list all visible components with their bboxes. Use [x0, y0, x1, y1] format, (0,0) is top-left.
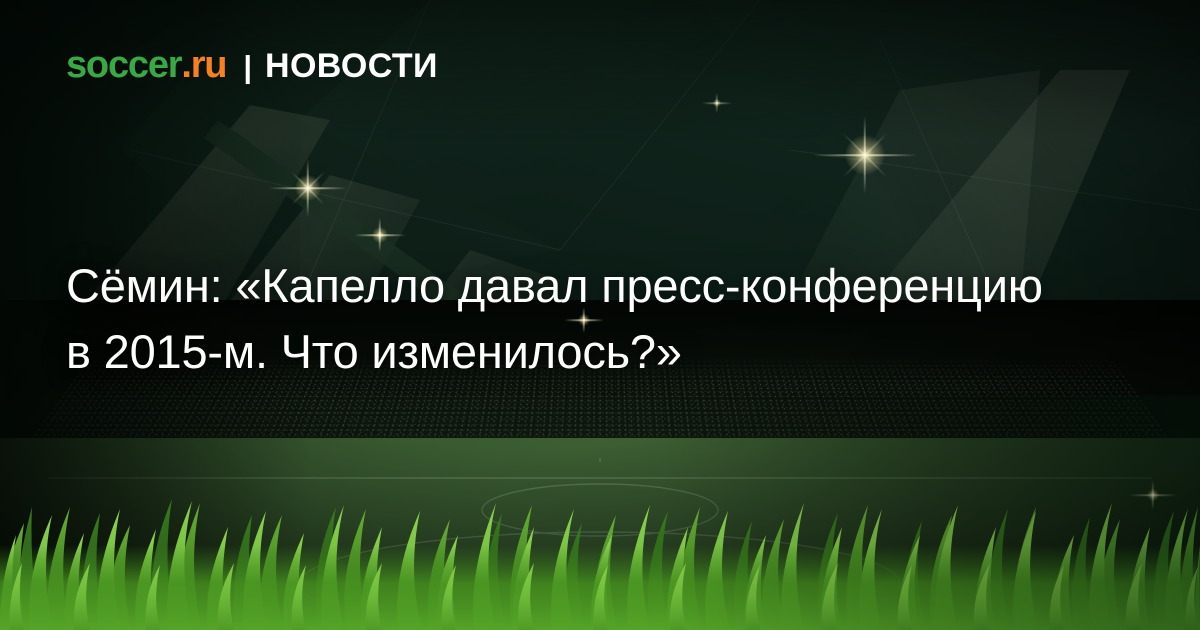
article-headline: Сёмин: «Капелло давал пресс-конференцию … — [66, 253, 1076, 385]
logo-separator: | — [243, 49, 252, 85]
site-logo[interactable]: soccer .ru | НОВОСТИ — [66, 44, 438, 87]
logo-word-ru: .ru — [181, 44, 226, 87]
news-share-card: soccer .ru | НОВОСТИ Сёмин: «Капелло дав… — [0, 0, 1200, 630]
foreground-grass — [0, 395, 1200, 630]
logo-word-soccer: soccer — [66, 44, 181, 87]
section-label-news: НОВОСТИ — [265, 47, 438, 86]
